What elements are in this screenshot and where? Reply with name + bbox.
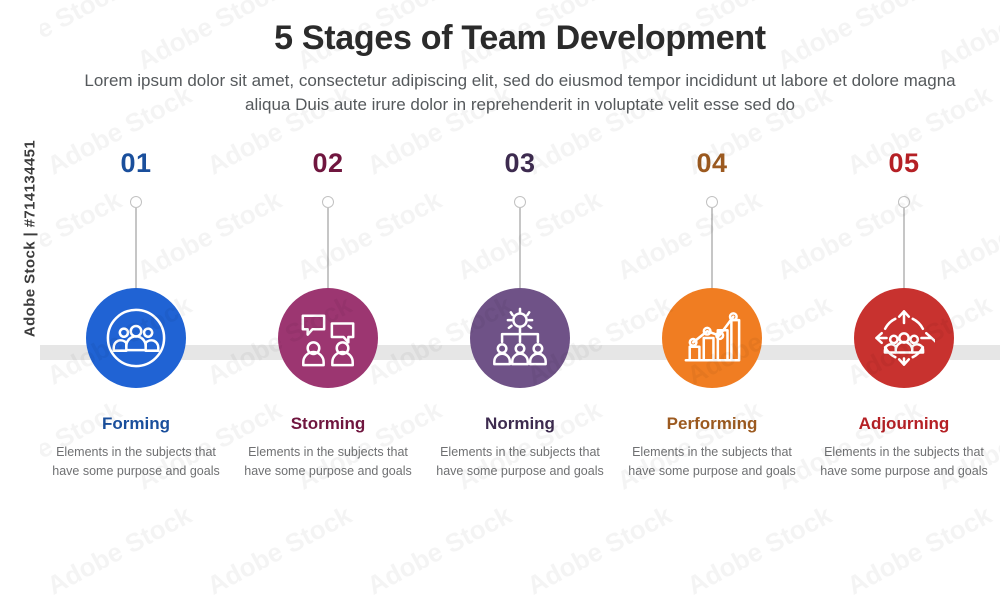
watermark-sidebar-label: Adobe Stock | #714134451 bbox=[22, 89, 39, 389]
stage-number: 01 bbox=[120, 150, 151, 182]
stage-title: Storming bbox=[291, 415, 366, 434]
watermark-sidebar: Adobe Stock | #714134451 bbox=[0, 0, 40, 563]
stage-list: 01 Forming Elements in the subjects that… bbox=[40, 150, 1000, 540]
connector-line bbox=[135, 207, 137, 288]
stage-number: 02 bbox=[312, 150, 343, 182]
